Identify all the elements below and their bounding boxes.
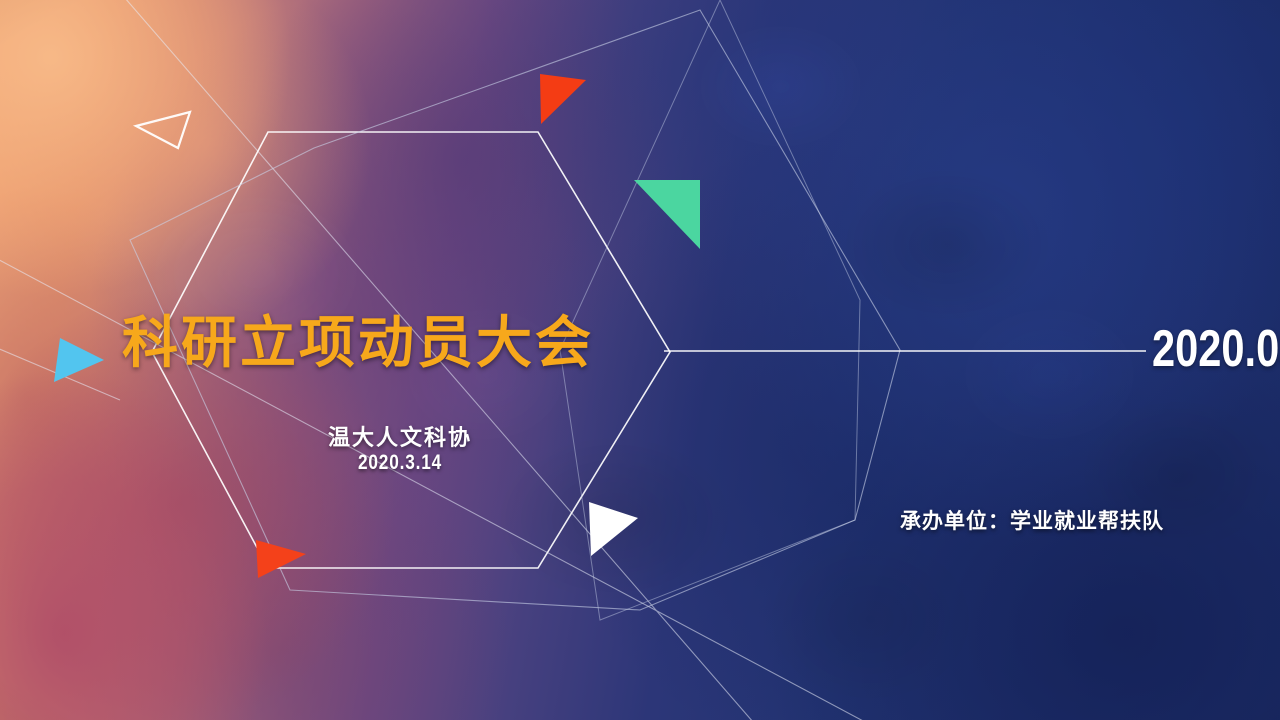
red-triangle-bottom-icon bbox=[256, 540, 306, 578]
host-organization-label: 承办单位：学业就业帮扶队 bbox=[900, 505, 1164, 535]
secondary-polygon-outline bbox=[130, 10, 900, 610]
title-slide: 科研立项动员大会 温大人文科协 2020.3.14 2020.03 承办单位：学… bbox=[0, 0, 1280, 720]
date-badge: 2020.03 bbox=[1152, 323, 1280, 375]
outline-triangle-topleft-icon bbox=[136, 112, 190, 148]
organization-date: 2020.3.14 bbox=[228, 451, 572, 475]
organization-name: 温大人文科协 bbox=[190, 420, 610, 452]
teal-triangle-icon bbox=[634, 180, 700, 249]
red-triangle-top-icon bbox=[540, 74, 586, 124]
page-title: 科研立项动员大会 bbox=[122, 315, 594, 371]
white-triangle-icon bbox=[589, 502, 638, 556]
cyan-triangle-left-icon bbox=[54, 338, 104, 382]
